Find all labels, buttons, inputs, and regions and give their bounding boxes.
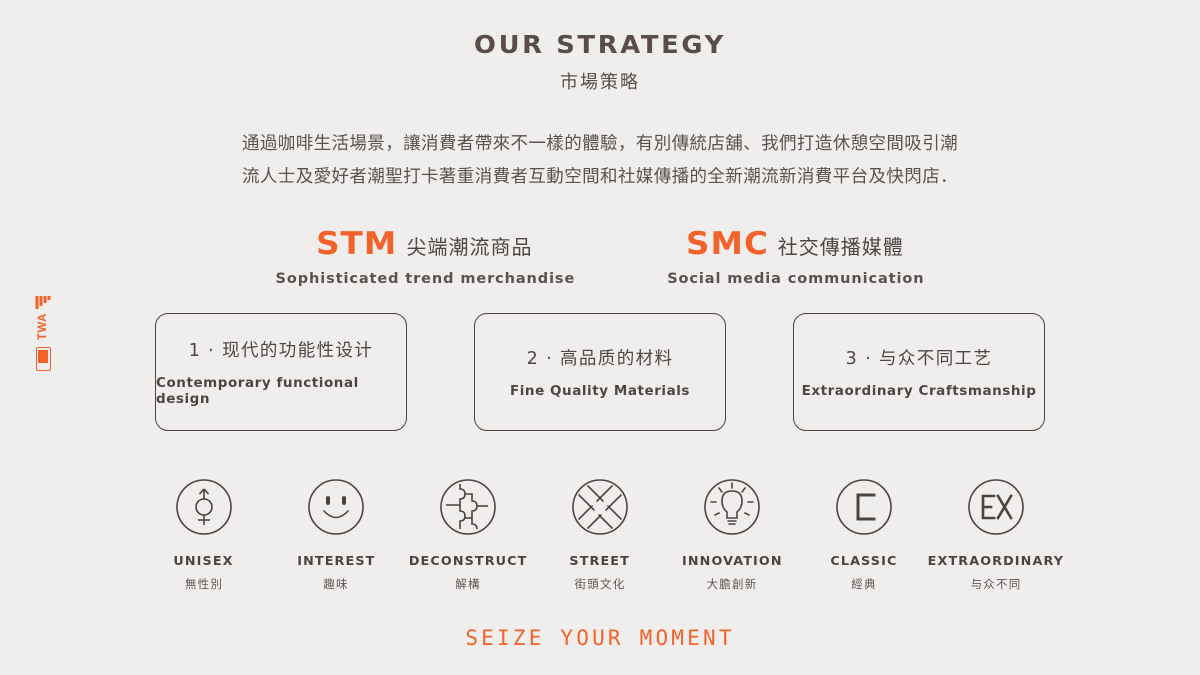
attribute-sublabel: 大膽創新 [707,576,758,592]
code-chinese-label: 尖端潮流商品 [407,231,533,260]
intro-paragraph-line-1: 通過咖啡生活場景，讓消費者帶來不一樣的體驗，有別傳統店舖、我們打造休憩空間吸引潮 [172,128,1028,161]
code-heading: STM 尖端潮流商品 [276,226,576,262]
pillar-chinese-label: 1 · 现代的功能性设计 [189,337,374,362]
attribute-item-extraordinary: EXTRAORDINARY 与众不同 [937,477,1055,592]
pillar-english-label: Fine Quality Materials [510,383,690,399]
attribute-label: UNISEX [174,553,234,568]
code-english-label: Social media communication [667,271,924,287]
lightbulb-icon [702,477,762,537]
code-english-label: Sophisticated trend merchandise [276,271,576,287]
pillar-group: 1 · 现代的功能性设计 Contemporary functional des… [155,313,1045,431]
pillar-chinese-label: 3 · 与众不同工艺 [846,345,993,370]
attribute-label: INTEREST [297,553,375,568]
attribute-label: STREET [570,553,631,568]
code-abbreviation: STM [316,226,397,262]
attribute-label: EXTRAORDINARY [928,553,1064,568]
attribute-sublabel: 与众不同 [971,576,1022,592]
code-block-stm: STM 尖端潮流商品 Sophisticated trend merchandi… [276,226,576,287]
code-abbreviation: SMC [686,226,769,262]
attribute-label: DECONSTRUCT [409,553,528,568]
pillar-chinese-label: 2 · 高品质的材料 [527,345,674,370]
attribute-label: CLASSIC [830,553,897,568]
pillar-card-2: 2 · 高品质的材料 Fine Quality Materials [474,313,726,431]
attribute-label: INNOVATION [682,553,783,568]
letter-c-icon [834,477,894,537]
code-group: STM 尖端潮流商品 Sophisticated trend merchandi… [0,226,1200,287]
gender-unisex-icon [174,477,234,537]
brand-mark-label: TWA [37,313,49,340]
page-header: OUR STRATEGY 市場策略 [0,0,1200,94]
intro-paragraph-line-2: 流人士及愛好者潮聖打卡著重消費者互動空間和社媒傳播的全新潮流新消費平台及快閃店． [172,161,1028,194]
attribute-item-interest: INTEREST 趣味 [277,477,395,592]
page-subtitle: 市場策略 [0,68,1200,94]
attribute-item-unisex: UNISEX 無性別 [145,477,263,592]
code-chinese-label: 社交傳播媒體 [778,231,904,260]
tagline: SEIZE YOUR MOMENT [0,626,1200,650]
attribute-icon-row: UNISEX 無性別 INTEREST 趣味 DEC [145,477,1055,592]
signal-bars-icon [36,296,51,309]
attribute-item-innovation: INNOVATION 大膽創新 [673,477,791,592]
pillar-english-label: Extraordinary Craftsmanship [802,383,1037,399]
coffee-cup-icon [36,347,51,371]
smiley-face-icon [306,477,366,537]
letter-ex-icon [966,477,1026,537]
puzzle-pieces-icon [438,477,498,537]
code-block-smc: SMC 社交傳播媒體 Social media communication [667,226,924,287]
attribute-sublabel: 無性別 [185,576,223,592]
attribute-sublabel: 趣味 [323,576,348,592]
attribute-sublabel: 經典 [851,576,876,592]
pillar-card-3: 3 · 与众不同工艺 Extraordinary Craftsmanship [793,313,1045,431]
attribute-item-street: STREET 街頭文化 [541,477,659,592]
page-title: OUR STRATEGY [0,30,1200,59]
attribute-item-classic: CLASSIC 經典 [805,477,923,592]
code-heading: SMC 社交傳播媒體 [667,226,924,262]
attribute-item-deconstruct: DECONSTRUCT 解構 [409,477,527,592]
intro-paragraph: 通過咖啡生活場景，讓消費者帶來不一樣的體驗，有別傳統店舖、我們打造休憩空間吸引潮… [172,128,1028,194]
brand-mark: TWA [26,296,60,388]
attribute-sublabel: 街頭文化 [575,576,626,592]
attribute-sublabel: 解構 [455,576,480,592]
pillar-card-1: 1 · 现代的功能性设计 Contemporary functional des… [155,313,407,431]
crosshatch-weave-icon [570,477,630,537]
pillar-english-label: Contemporary functional design [156,375,406,407]
